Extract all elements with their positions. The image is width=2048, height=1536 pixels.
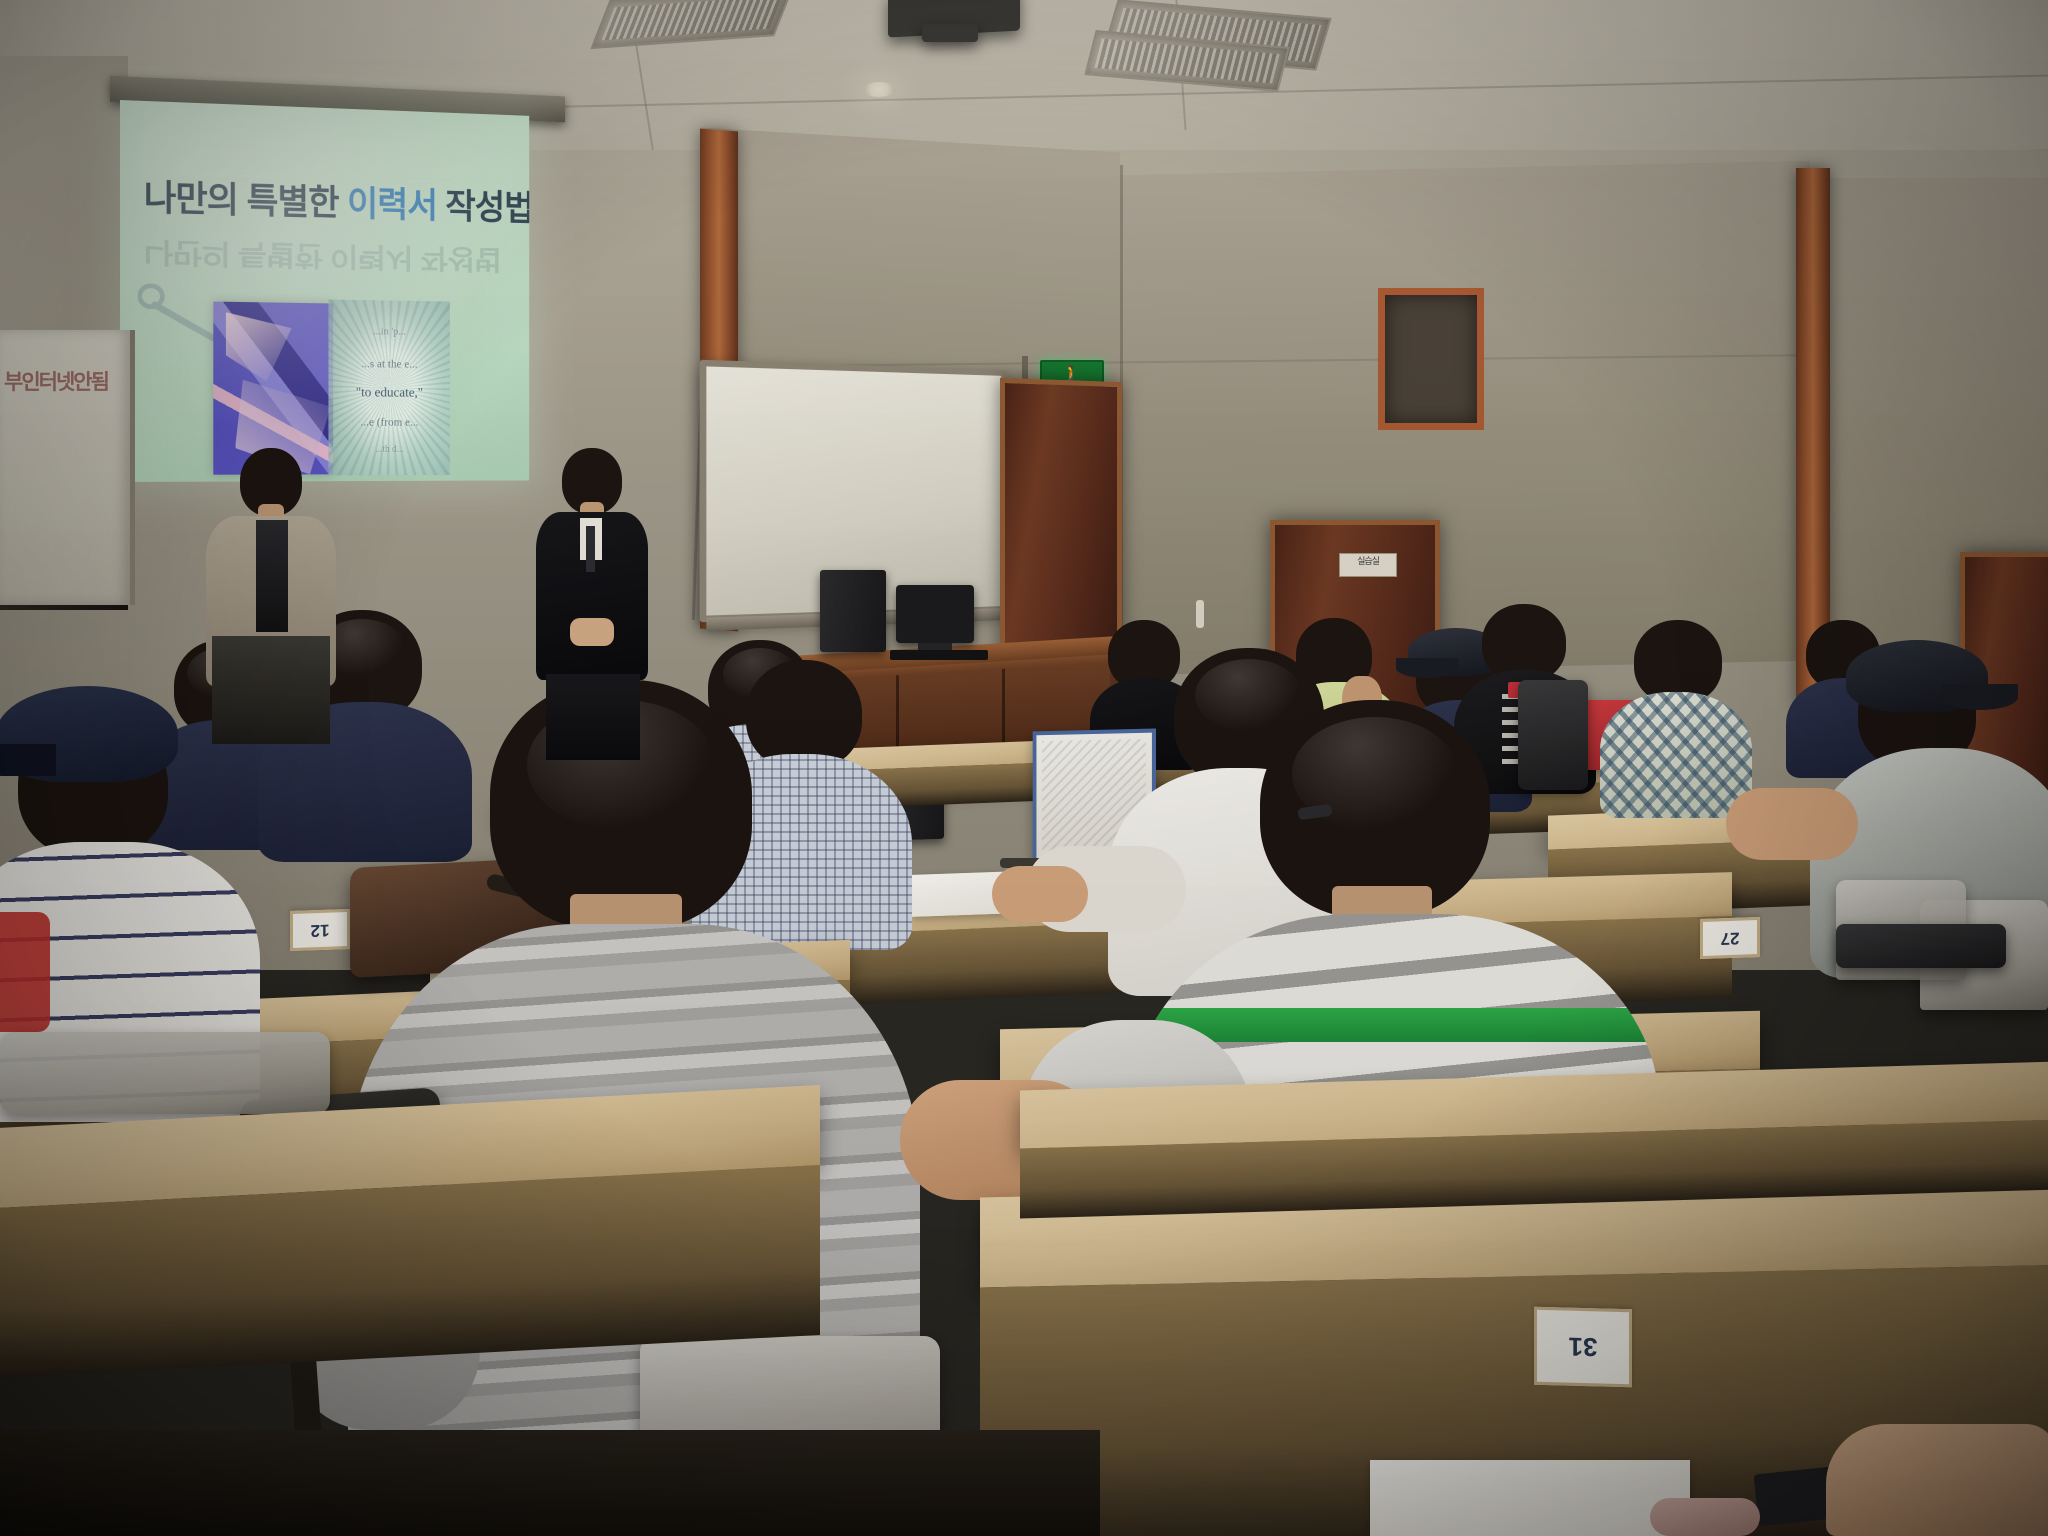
slide-body-line: ...s at the e... (328, 356, 449, 372)
trousers (546, 674, 640, 760)
hand-object (1650, 1498, 1760, 1536)
slide-title: 나만의 특별한 이력서 작성법 (144, 169, 522, 230)
chair-dark-far[interactable] (1518, 680, 1588, 790)
chair-left-front[interactable] (0, 1032, 330, 1114)
slide-text-panel: ...in 'p... ...s at the e... "to educate… (328, 300, 449, 476)
red-item-on-lap (0, 912, 50, 1032)
slide-body-line: "to educate," (328, 385, 449, 401)
podium-monitor (896, 585, 974, 643)
forearm (992, 866, 1088, 922)
presenter-suit (536, 448, 648, 760)
necktie (586, 526, 595, 572)
arm (1726, 788, 1858, 860)
slide-body-line: ...in 'p... (328, 325, 449, 338)
wall-warning-text: 부인터넷안됨 (4, 366, 108, 396)
hand-bottom-right (1826, 1424, 2048, 1536)
ceiling-downlight (862, 82, 896, 97)
trousers (212, 636, 330, 744)
desk-placard-31: 31 (1534, 1307, 1632, 1388)
cap-brim (1942, 684, 2018, 710)
baseball-cap (1846, 640, 1988, 712)
floor (0, 1430, 1100, 1536)
desk-placard-mid-right: 27 (1700, 917, 1760, 959)
cap-brim (1396, 658, 1458, 678)
slide-title-reflection: 나만의 특별한 이력서 작성법 (144, 234, 522, 282)
clasped-hands (570, 618, 614, 646)
keyboard[interactable] (890, 650, 988, 660)
cap-brim (0, 744, 56, 776)
slide-body-line: ...e (from e... (328, 415, 449, 430)
slide-hook-graphic (138, 282, 222, 343)
projector-lens-housing (922, 24, 978, 42)
presenter-blazer (206, 448, 336, 748)
inner-shirt (256, 520, 288, 632)
paper-bottom[interactable] (1370, 1460, 1690, 1536)
wall-frame (1378, 288, 1484, 430)
projection-screen: 나만의 특별한 이력서 작성법 나만의 특별한 이력서 작성법 ...in 'p… (120, 100, 529, 482)
classroom-photo: 나만의 특별한 이력서 작성법 나만의 특별한 이력서 작성법 ...in 'p… (0, 0, 2048, 1536)
green-stripe (1130, 1008, 1660, 1042)
slide-body-line: ...th d... (328, 444, 449, 455)
door-sign: 실습실 (1339, 553, 1397, 577)
baseball-cap (0, 686, 178, 782)
chair-dark-back[interactable] (1836, 924, 2006, 968)
